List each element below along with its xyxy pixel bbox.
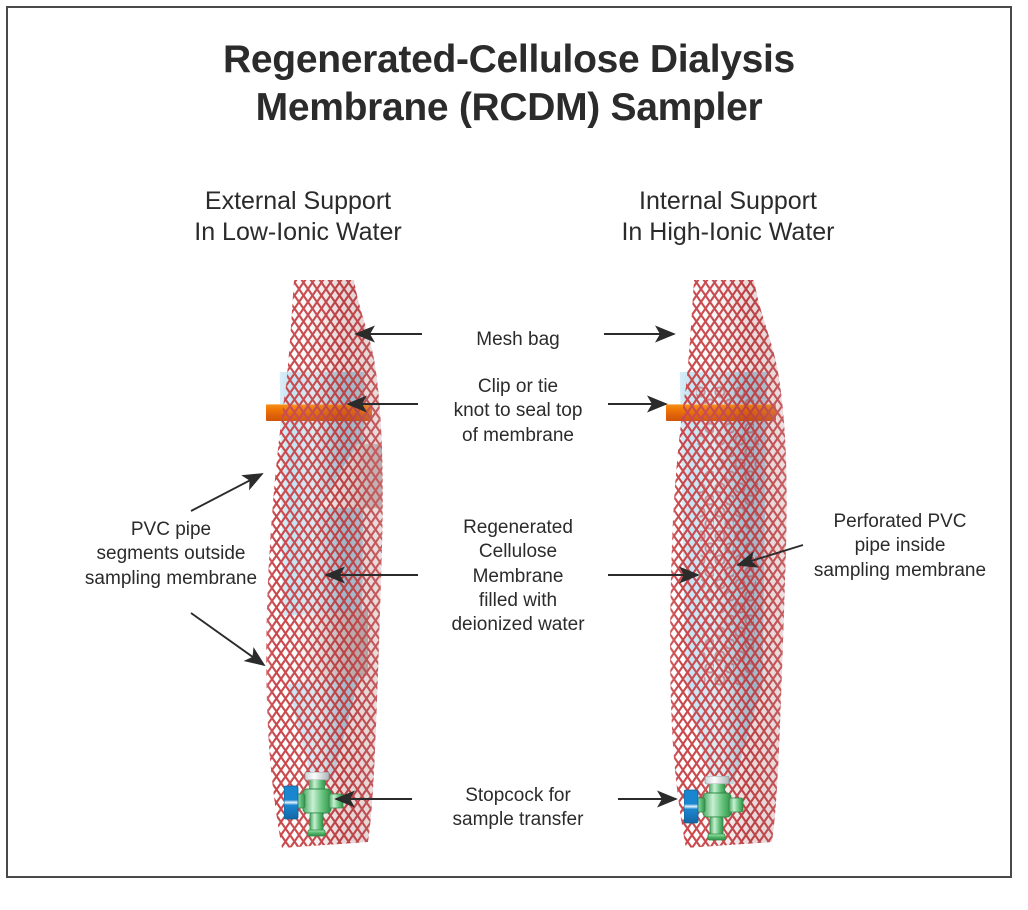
annotation-pvc-external-line-1: PVC pipe: [56, 518, 286, 542]
title-line-2: Membrane (RCDM) Sampler: [8, 84, 1010, 132]
annotation-pvc-external: PVC pipe segments outside sampling membr…: [56, 518, 286, 591]
annotation-membrane-line-2: Cellulose: [423, 540, 613, 564]
annotation-pvc-internal-line-2: pipe inside: [790, 534, 1010, 558]
annotation-membrane-line-3: Membrane: [423, 565, 613, 589]
annotation-clip-line-1: Clip or tie: [423, 375, 613, 399]
annotation-stopcock-line-2: sample transfer: [418, 808, 618, 832]
annotation-mesh-bag: Mesh bag: [428, 328, 608, 352]
annotation-pvc-external-line-2: segments outside: [56, 542, 286, 566]
annotation-pvc-external-line-3: sampling membrane: [56, 567, 286, 591]
annotation-stopcock-line-1: Stopcock for: [418, 784, 618, 808]
figure-frame: Regenerated-Cellulose Dialysis Membrane …: [6, 6, 1012, 878]
page-title: Regenerated-Cellulose Dialysis Membrane …: [8, 36, 1010, 131]
panel-subtitle-right: Internal Support In High-Ionic Water: [548, 186, 908, 247]
annotation-stopcock: Stopcock for sample transfer: [418, 784, 618, 833]
annotation-clip-line-2: knot to seal top: [423, 399, 613, 423]
annotation-pvc-internal-line-3: sampling membrane: [790, 559, 1010, 583]
annotation-clip-line-3: of membrane: [423, 424, 613, 448]
annotation-membrane-line-4: filled with: [423, 589, 613, 613]
annotation-clip-or-tie: Clip or tie knot to seal top of membrane: [423, 375, 613, 448]
annotation-membrane-line-1: Regenerated: [423, 516, 613, 540]
annotation-mesh-bag-line-1: Mesh bag: [428, 328, 608, 352]
panel-subtitle-left-line-2: In Low-Ionic Water: [118, 217, 478, 248]
annotation-membrane: Regenerated Cellulose Membrane filled wi…: [423, 516, 613, 638]
annotation-membrane-line-5: deionized water: [423, 613, 613, 637]
annotation-pvc-internal: Perforated PVC pipe inside sampling memb…: [790, 510, 1010, 583]
title-line-1: Regenerated-Cellulose Dialysis: [8, 36, 1010, 84]
stopcock-valve-right: [684, 776, 750, 850]
panel-subtitle-right-line-1: Internal Support: [548, 186, 908, 217]
panel-subtitle-right-line-2: In High-Ionic Water: [548, 217, 908, 248]
annotation-pvc-internal-line-1: Perforated PVC: [790, 510, 1010, 534]
stopcock-valve-left: [284, 772, 350, 846]
panel-subtitle-left: External Support In Low-Ionic Water: [118, 186, 478, 247]
panel-subtitle-left-line-1: External Support: [118, 186, 478, 217]
